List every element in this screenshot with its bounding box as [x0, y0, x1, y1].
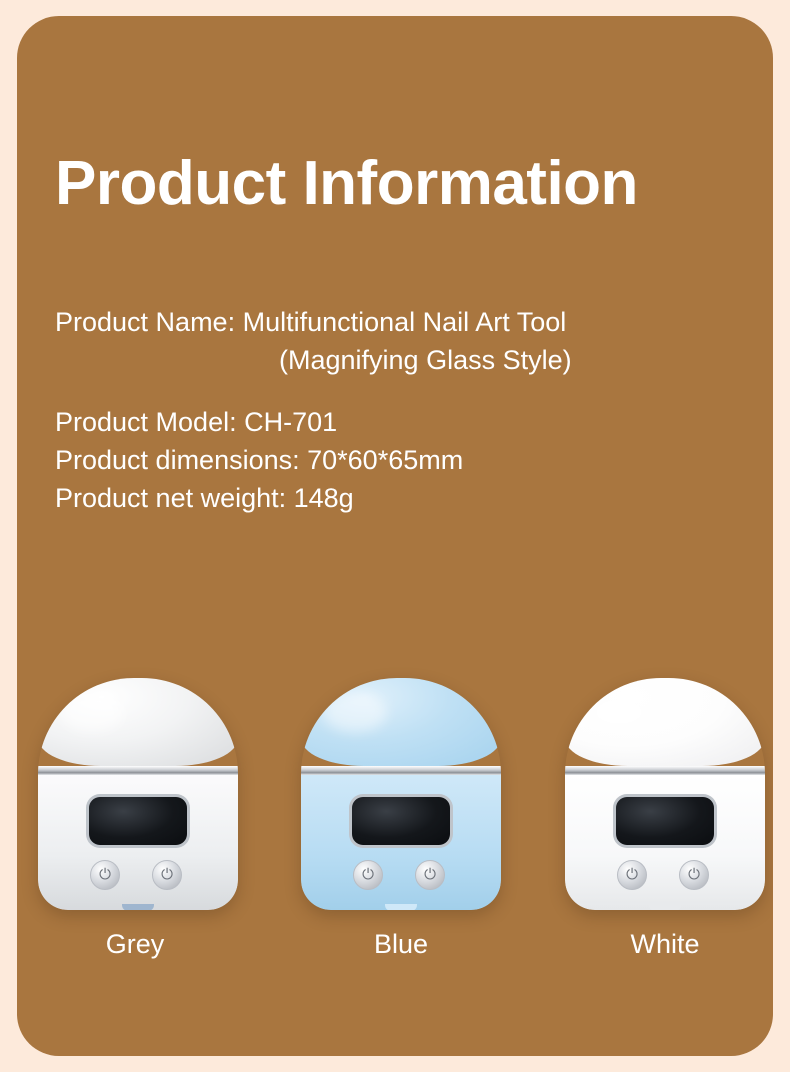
- device-chrome-band: [38, 766, 238, 775]
- spec-product-model: Product Model: CH-701: [55, 403, 735, 441]
- spec-product-dimensions: Product dimensions: 70*60*65mm: [55, 441, 735, 479]
- mode-button-icon: ⏻: [415, 860, 445, 890]
- spec-product-name: Product Name: Multifunctional Nail Art T…: [55, 303, 735, 341]
- device-highlight: [587, 692, 651, 732]
- spec-product-name-continued: (Magnifying Glass Style): [55, 341, 735, 379]
- power-button-icon: ⏻: [90, 860, 120, 890]
- page-title: Product Information: [55, 149, 638, 219]
- device-chrome-band: [565, 766, 765, 775]
- color-label-white: White: [550, 928, 773, 960]
- nail-art-tool-device: ⏻ ⏻: [565, 678, 765, 910]
- mode-button-icon: ⏻: [679, 860, 709, 890]
- device-highlight: [323, 692, 387, 732]
- device-foot: [122, 904, 154, 910]
- product-variant-blue: ⏻ ⏻ Blue: [286, 666, 516, 960]
- power-button-icon: ⏻: [353, 860, 383, 890]
- spec-product-net-weight: Product net weight: 148g: [55, 479, 735, 517]
- device-image-grey: ⏻ ⏻: [23, 666, 253, 916]
- device-foot: [385, 904, 417, 910]
- device-screen: [349, 794, 453, 848]
- device-foot: [649, 904, 681, 910]
- device-screen: [86, 794, 190, 848]
- nail-art-tool-device: ⏻ ⏻: [38, 678, 238, 910]
- product-variant-grey: ⏻ ⏻ Grey: [23, 666, 253, 960]
- spec-spacer: [55, 379, 735, 403]
- color-label-blue: Blue: [286, 928, 516, 960]
- nail-art-tool-device: ⏻ ⏻: [301, 678, 501, 910]
- product-information-page: Product Information Product Name: Multif…: [0, 0, 790, 1072]
- device-highlight: [60, 692, 124, 732]
- device-screen: [613, 794, 717, 848]
- info-card: Product Information Product Name: Multif…: [17, 16, 773, 1056]
- color-variant-gallery: ⏻ ⏻ Grey ⏻ ⏻: [17, 666, 773, 1026]
- device-image-white: ⏻ ⏻: [550, 666, 773, 916]
- color-label-grey: Grey: [23, 928, 253, 960]
- specification-list: Product Name: Multifunctional Nail Art T…: [55, 303, 735, 517]
- mode-button-icon: ⏻: [152, 860, 182, 890]
- product-variant-white: ⏻ ⏻ White: [550, 666, 773, 960]
- device-image-blue: ⏻ ⏻: [286, 666, 516, 916]
- power-button-icon: ⏻: [617, 860, 647, 890]
- device-chrome-band: [301, 766, 501, 775]
